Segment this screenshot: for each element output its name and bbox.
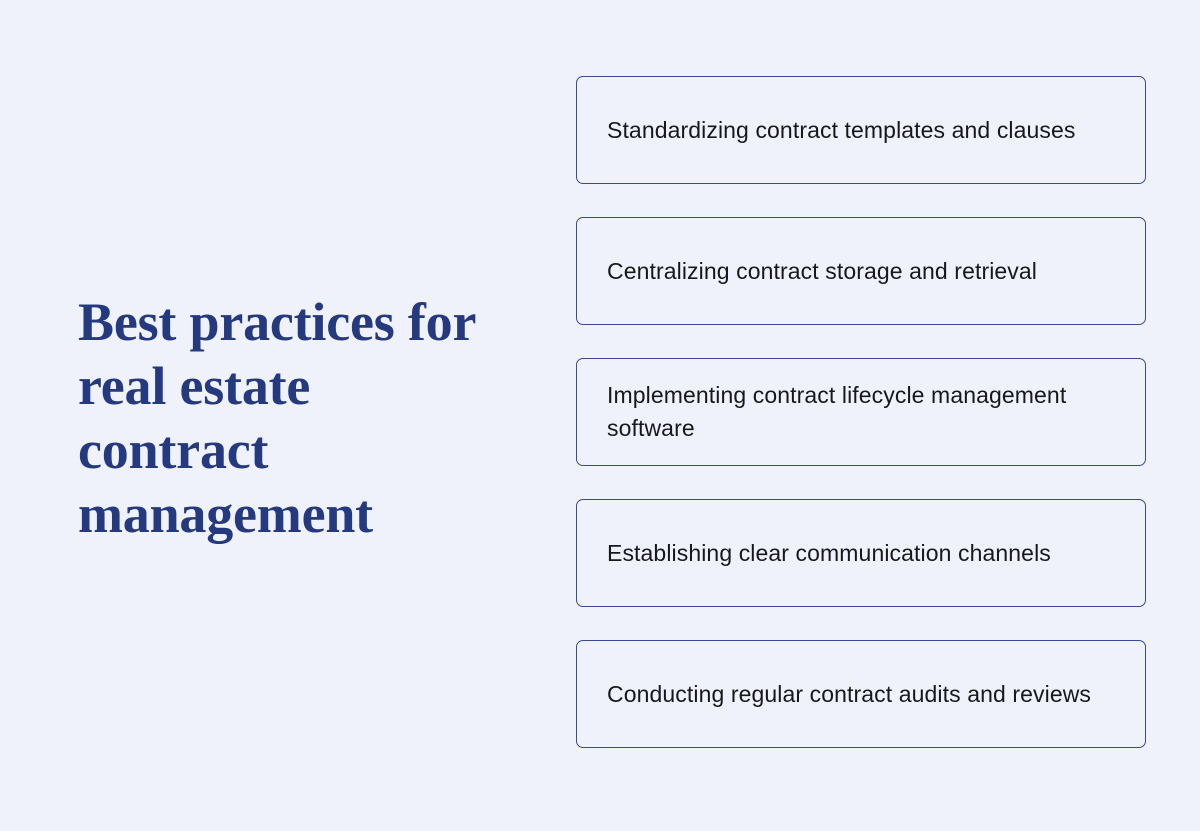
- heading-block: Best practices for real estate contract …: [78, 290, 498, 546]
- infographic-canvas: Best practices for real estate contract …: [0, 0, 1200, 831]
- list-item: Centralizing contract storage and retrie…: [576, 217, 1146, 325]
- list-item: Establishing clear communication channel…: [576, 499, 1146, 607]
- list-item-label: Centralizing contract storage and retrie…: [607, 255, 1037, 288]
- list-item: Standardizing contract templates and cla…: [576, 76, 1146, 184]
- page-title: Best practices for real estate contract …: [78, 290, 498, 546]
- list-item-label: Standardizing contract templates and cla…: [607, 114, 1076, 147]
- list-item-label: Conducting regular contract audits and r…: [607, 678, 1091, 711]
- best-practices-list: Standardizing contract templates and cla…: [576, 76, 1146, 748]
- list-item-label: Implementing contract lifecycle manageme…: [607, 379, 1115, 445]
- list-item: Implementing contract lifecycle manageme…: [576, 358, 1146, 466]
- list-item-label: Establishing clear communication channel…: [607, 537, 1051, 570]
- list-item: Conducting regular contract audits and r…: [576, 640, 1146, 748]
